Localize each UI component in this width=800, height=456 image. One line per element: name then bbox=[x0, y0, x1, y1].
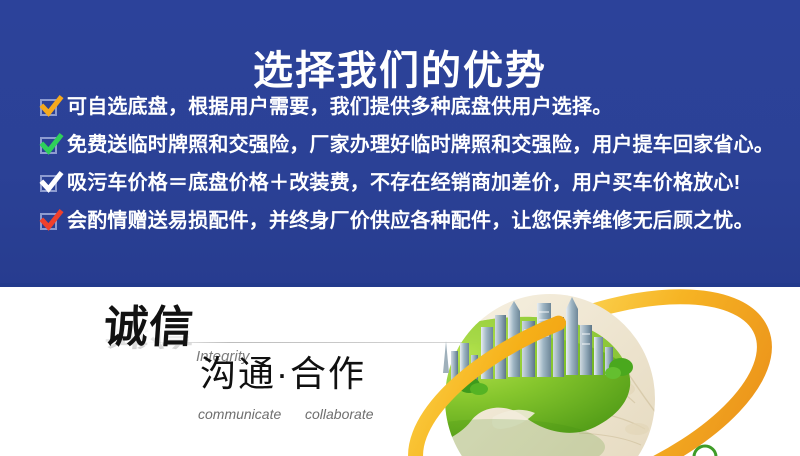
list-item-label: 会酌情赠送易损配件，并终身厂价供应各种配件，让您保养维修无后顾之忧。 bbox=[67, 209, 754, 233]
list-item-label: 吸污车价格＝底盘价格＋改装费，不存在经销商加差价，用户买车价格放心! bbox=[67, 171, 740, 195]
list-item: 会酌情赠送易损配件，并终身厂价供应各种配件，让您保养维修无后顾之忧。 bbox=[40, 202, 795, 240]
list-item-label: 免费送临时牌照和交强险，厂家办理好临时牌照和交强险，用户提车回家省心。 bbox=[67, 133, 774, 157]
advantages-list: 可自选底盘，根据用户需要，我们提供多种底盘供用户选择。 免费送临时牌照和交强险，… bbox=[40, 88, 795, 240]
list-item: 可自选底盘，根据用户需要，我们提供多种底盘供用户选择。 bbox=[40, 88, 795, 126]
advantages-page: 选择我们的优势 可自选底盘，根据用户需要，我们提供多种底盘供用户选择。 免费送临… bbox=[0, 0, 800, 456]
list-item-label: 可自选底盘，根据用户需要，我们提供多种底盘供用户选择。 bbox=[67, 95, 612, 119]
banner-subline-en-communicate: communicate bbox=[198, 406, 281, 422]
checkbox-checked-icon bbox=[40, 99, 57, 116]
culture-banner: 诚信 诚信 Integrity 沟通·合作 communicate collab… bbox=[0, 287, 800, 456]
checkbox-checked-icon bbox=[40, 175, 57, 192]
green-globe-city-icon bbox=[375, 287, 800, 456]
checkbox-checked-icon bbox=[40, 213, 57, 230]
banner-subline-en-collaborate: collaborate bbox=[305, 406, 374, 422]
banner-subline-cn: 沟通·合作 bbox=[200, 352, 366, 396]
list-item: 免费送临时牌照和交强险，厂家办理好临时牌照和交强险，用户提车回家省心。 bbox=[40, 126, 795, 164]
checkbox-checked-icon bbox=[40, 137, 57, 154]
advantages-panel: 选择我们的优势 可自选底盘，根据用户需要，我们提供多种底盘供用户选择。 免费送临… bbox=[0, 0, 800, 287]
banner-headline-cn: 诚信 bbox=[102, 303, 195, 353]
list-item: 吸污车价格＝底盘价格＋改装费，不存在经销商加差价，用户买车价格放心! bbox=[40, 164, 795, 202]
